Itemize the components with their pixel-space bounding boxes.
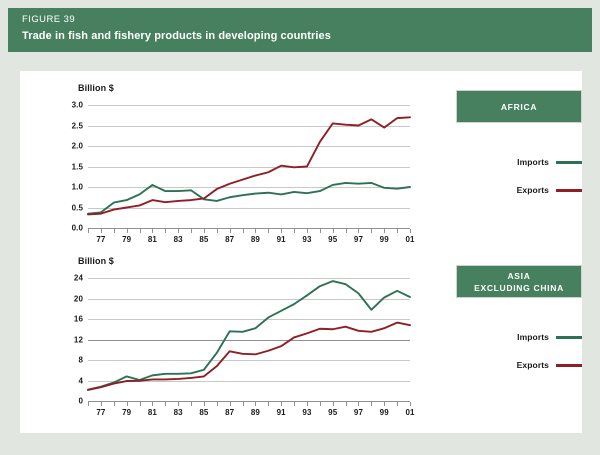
x-axis-tick <box>217 402 218 406</box>
legend-item-africa-imports-label: Imports <box>517 157 549 167</box>
x-axis-tick <box>230 229 231 233</box>
x-axis-tick <box>346 229 347 233</box>
x-axis-tick <box>268 402 269 406</box>
figure-header-band: FIGURE 39 Trade in fish and fishery prod… <box>8 8 592 52</box>
x-axis-tick-label: 97 <box>354 235 363 244</box>
series-line-imports <box>88 183 410 214</box>
y-axis-tick-label: 0.0 <box>72 224 83 233</box>
x-axis-tick <box>101 229 102 233</box>
y-axis-tick-label: 20 <box>74 294 83 303</box>
x-axis-tick <box>281 402 282 406</box>
legend-item-africa-imports: Imports <box>456 155 582 169</box>
x-axis-tick <box>243 402 244 406</box>
x-axis-tick-label: 85 <box>199 235 208 244</box>
legend-title-africa-text: AFRICA <box>501 101 537 113</box>
y-axis-tick-label: 2.5 <box>72 121 83 130</box>
legend-title-asia-excluding-china: ASIA EXCLUDING CHINA <box>456 265 582 298</box>
x-axis-tick <box>191 402 192 406</box>
x-axis-tick-label: 01 <box>405 235 414 244</box>
y-axis-tick-label: 4 <box>78 376 83 385</box>
x-axis-tick <box>152 402 153 406</box>
y-axis-tick-label: 0 <box>78 397 83 406</box>
x-axis-tick-label: 89 <box>251 235 260 244</box>
y-axis-tick-label: 16 <box>74 315 83 324</box>
x-axis-tick <box>384 229 385 233</box>
x-axis-tick-label: 91 <box>277 235 286 244</box>
x-axis-tick <box>307 229 308 233</box>
x-axis-tick-label: 87 <box>225 408 234 417</box>
x-axis-tick <box>281 229 282 233</box>
x-axis-tick <box>333 402 334 406</box>
x-axis-tick <box>346 402 347 406</box>
x-axis-tick <box>127 402 128 406</box>
series-line-exports <box>88 117 410 214</box>
legend-item-asia-exports-label: Exports <box>517 360 549 370</box>
x-axis-line <box>88 228 410 229</box>
x-axis-tick <box>140 402 141 406</box>
legend-swatch-exports-icon <box>556 364 582 367</box>
legend-item-asia-imports-label: Imports <box>517 332 549 342</box>
x-axis-tick <box>165 229 166 233</box>
x-axis-tick <box>140 229 141 233</box>
y-axis-tick-label: 1.0 <box>72 183 83 192</box>
chart-africa-plot-area: 0.00.51.01.52.02.53.07779818385878991939… <box>88 105 410 228</box>
x-axis-tick <box>204 402 205 406</box>
chart-africa: Billion $ 0.00.51.01.52.02.53.0777981838… <box>50 83 430 253</box>
legend-swatch-exports-icon <box>556 189 582 192</box>
legend-item-africa-exports-label: Exports <box>517 185 549 195</box>
x-axis-tick-label: 81 <box>148 408 157 417</box>
series-layer <box>88 105 410 228</box>
x-axis-tick <box>397 229 398 233</box>
x-axis-tick-label: 93 <box>302 235 311 244</box>
series-line-imports <box>88 281 410 390</box>
x-axis-tick-label: 83 <box>174 235 183 244</box>
x-axis-tick <box>371 402 372 406</box>
chart-asia-y-axis-unit: Billion $ <box>78 256 114 266</box>
legend-title-africa-line1: AFRICA <box>501 102 537 112</box>
x-axis-tick <box>230 402 231 406</box>
x-axis-tick <box>371 229 372 233</box>
y-axis-tick-label: 2.0 <box>72 142 83 151</box>
series-layer <box>88 278 410 401</box>
legend-swatch-imports-icon <box>556 161 582 164</box>
x-axis-tick-label: 95 <box>328 408 337 417</box>
x-axis-tick-label: 79 <box>122 235 131 244</box>
y-axis-tick-label: 12 <box>74 335 83 344</box>
x-axis-tick <box>88 402 89 406</box>
x-axis-tick-label: 83 <box>174 408 183 417</box>
x-axis-tick <box>294 229 295 233</box>
x-axis-tick <box>255 402 256 406</box>
x-axis-tick <box>307 402 308 406</box>
legend-title-asia-text: ASIA EXCLUDING CHINA <box>474 270 564 294</box>
x-axis-tick <box>268 229 269 233</box>
legend-item-asia-exports: Exports <box>456 358 582 372</box>
x-axis-tick-label: 99 <box>380 235 389 244</box>
x-axis-tick-label: 77 <box>96 235 105 244</box>
x-axis-tick <box>358 229 359 233</box>
legend-title-asia-line2: EXCLUDING CHINA <box>474 283 564 293</box>
chart-asia-plot-area: 0481216202477798183858789919395979901 <box>88 278 410 401</box>
x-axis-tick <box>243 229 244 233</box>
y-axis-tick-label: 3.0 <box>72 101 83 110</box>
y-axis-tick-label: 1.5 <box>72 162 83 171</box>
x-axis-tick-label: 97 <box>354 408 363 417</box>
x-axis-tick <box>217 229 218 233</box>
x-axis-tick <box>320 229 321 233</box>
y-axis-tick-label: 24 <box>74 274 83 283</box>
legend-swatch-imports-icon <box>556 336 582 339</box>
y-axis-tick-label: 8 <box>78 356 83 365</box>
x-axis-tick <box>101 402 102 406</box>
y-axis-tick-label: 0.5 <box>72 203 83 212</box>
x-axis-tick <box>358 402 359 406</box>
legend-title-asia-line1: ASIA <box>507 271 530 281</box>
legend-title-africa: AFRICA <box>456 90 582 123</box>
legend-item-africa-exports: Exports <box>456 183 582 197</box>
x-axis-line <box>88 401 410 402</box>
x-axis-tick <box>204 229 205 233</box>
chart-africa-y-axis-unit: Billion $ <box>78 83 114 93</box>
figure-panel: Billion $ 0.00.51.01.52.02.53.0777981838… <box>20 71 582 433</box>
x-axis-tick <box>127 229 128 233</box>
figure-title: Trade in fish and fishery products in de… <box>22 30 331 42</box>
x-axis-tick-label: 91 <box>277 408 286 417</box>
x-axis-tick <box>178 402 179 406</box>
x-axis-tick-label: 99 <box>380 408 389 417</box>
x-axis-tick <box>410 402 411 406</box>
x-axis-tick <box>294 402 295 406</box>
x-axis-tick-label: 77 <box>96 408 105 417</box>
figure-container: FIGURE 39 Trade in fish and fishery prod… <box>0 0 600 455</box>
x-axis-tick <box>397 402 398 406</box>
x-axis-tick <box>255 229 256 233</box>
figure-number: FIGURE 39 <box>22 14 75 25</box>
x-axis-tick-label: 85 <box>199 408 208 417</box>
x-axis-tick <box>114 229 115 233</box>
x-axis-tick-label: 79 <box>122 408 131 417</box>
x-axis-tick <box>114 402 115 406</box>
legend-item-asia-imports: Imports <box>456 330 582 344</box>
x-axis-tick-label: 01 <box>405 408 414 417</box>
x-axis-tick <box>88 229 89 233</box>
x-axis-tick-label: 95 <box>328 235 337 244</box>
x-axis-tick <box>165 402 166 406</box>
x-axis-tick-label: 87 <box>225 235 234 244</box>
x-axis-tick-label: 93 <box>302 408 311 417</box>
x-axis-tick <box>191 229 192 233</box>
x-axis-tick <box>320 402 321 406</box>
x-axis-tick <box>384 402 385 406</box>
chart-asia-excluding-china: Billion $ 048121620247779818385878991939… <box>50 256 430 426</box>
x-axis-tick-label: 89 <box>251 408 260 417</box>
x-axis-tick <box>333 229 334 233</box>
x-axis-tick <box>152 229 153 233</box>
x-axis-tick <box>410 229 411 233</box>
x-axis-tick-label: 81 <box>148 235 157 244</box>
x-axis-tick <box>178 229 179 233</box>
